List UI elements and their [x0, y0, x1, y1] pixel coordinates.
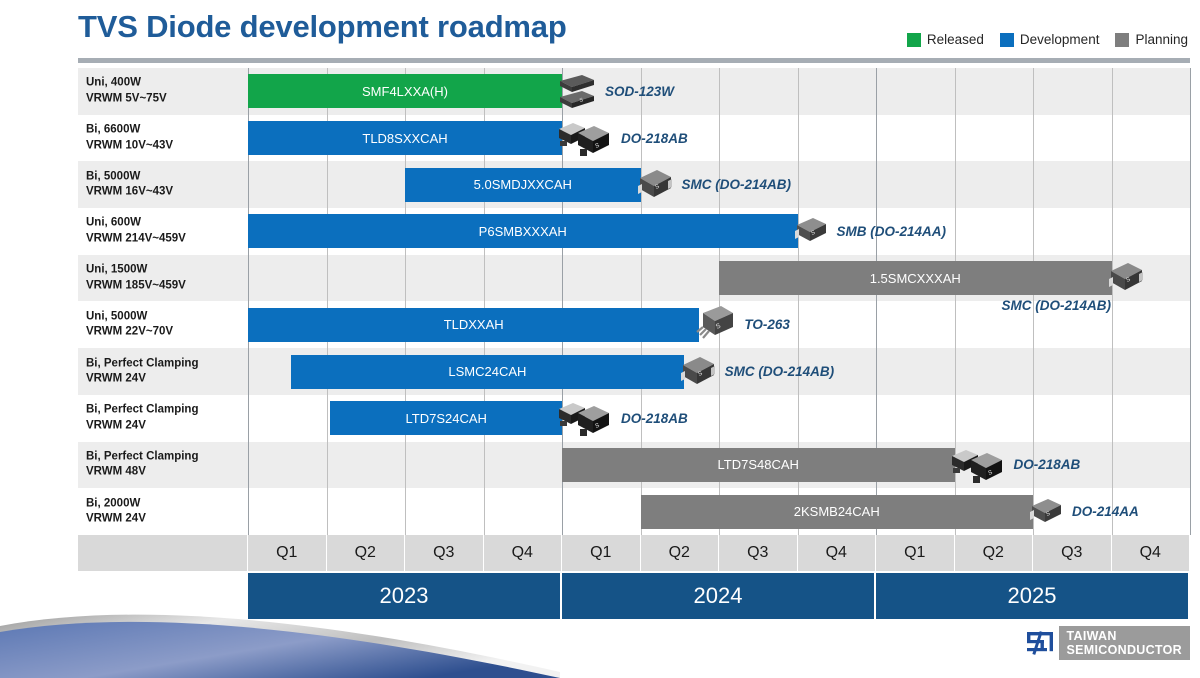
roadmap-bar-lane: 2KSMB24CAHsDO-214AA [78, 488, 1190, 535]
company-logo: TAIWAN SEMICONDUCTOR [1021, 626, 1190, 660]
package-caption: SOD-123W [605, 84, 674, 99]
smb-package-icon: s [1027, 495, 1065, 529]
quarter-cell-7: Q3 [719, 535, 798, 571]
roadmap-bar-development[interactable]: TLD8SXXCAH [248, 121, 562, 155]
roadmap-bar-development[interactable]: LTD7S24CAH [330, 401, 562, 435]
roadmap-bar-development[interactable]: P6SMBXXXAH [248, 214, 798, 248]
roadmap-bar-lane: SMF4LXXA(H)sSOD-123W [78, 68, 1190, 115]
roadmap-bar-lane: 1.5SMCXXXAHs [78, 255, 1190, 302]
quarter-cell-2: Q2 [327, 535, 406, 571]
roadmap-bar-lane: LSMC24CAHsSMC (DO-214AB) [78, 348, 1190, 395]
roadmap-bar-lane: 5.0SMDJXXCAHsSMC (DO-214AB) [78, 161, 1190, 208]
smb-package-icon: s [792, 214, 830, 248]
roadmap-bar-planning[interactable]: 2KSMB24CAH [641, 495, 1034, 529]
logo-mark-icon [1021, 626, 1059, 660]
logo-line-1: TAIWAN [1067, 629, 1182, 643]
smc-package-icon: s [1106, 259, 1146, 297]
package-group: sDO-218AB [556, 117, 688, 159]
package-caption: SMB (DO-214AA) [837, 224, 947, 239]
package-group: sDO-214AA [1027, 495, 1139, 529]
package-caption: SMC (DO-214AB) [682, 177, 792, 192]
legend-item-development: Development [1000, 32, 1100, 47]
legend: ReleasedDevelopmentPlanning [907, 32, 1188, 47]
roadmap-bars-layer: SMF4LXXA(H)sSOD-123WTLD8SXXCAHsDO-218AB5… [78, 68, 1190, 535]
legend-item-planning: Planning [1115, 32, 1188, 47]
do-218ab-package-icon: s [949, 444, 1007, 486]
package-group: sSMB (DO-214AA) [792, 214, 947, 248]
logo-text: TAIWAN SEMICONDUCTOR [1059, 626, 1190, 660]
roadmap-bar-lane: LTD7S24CAHsDO-218AB [78, 395, 1190, 442]
roadmap-bar-lane: TLDXXAHsTO-263 [78, 302, 1190, 349]
roadmap-bar-planning[interactable]: LTD7S48CAH [562, 448, 955, 482]
package-group: s [1106, 259, 1146, 297]
quarter-cell-9: Q1 [876, 535, 955, 571]
legend-swatch-released [907, 33, 921, 47]
page-title: TVS Diode development roadmap [78, 9, 567, 45]
sod-123w-package-icon: s [556, 71, 598, 111]
package-caption: DO-218AB [621, 411, 688, 426]
roadmap-bar-development[interactable]: TLDXXAH [248, 308, 699, 342]
logo-line-2: SEMICONDUCTOR [1067, 643, 1182, 657]
package-group: sDO-218AB [556, 397, 688, 439]
legend-label-planning: Planning [1135, 32, 1188, 47]
quarter-cell-11: Q3 [1033, 535, 1112, 571]
to-263-package-icon: s [693, 303, 737, 347]
package-caption: SMC (DO-214AB) [725, 364, 835, 379]
do-218ab-package-icon: s [556, 397, 614, 439]
legend-swatch-planning [1115, 33, 1129, 47]
roadmap-bar-planning[interactable]: 1.5SMCXXXAH [719, 261, 1112, 295]
legend-label-released: Released [927, 32, 984, 47]
legend-label-development: Development [1020, 32, 1100, 47]
quarter-header: Q1Q2Q3Q4Q1Q2Q3Q4Q1Q2Q3Q4 [78, 535, 1190, 571]
quarter-cell-8: Q4 [798, 535, 877, 571]
roadmap-bar-development[interactable]: LSMC24CAH [291, 355, 684, 389]
quarter-cell-6: Q2 [641, 535, 720, 571]
package-group: sSMC (DO-214AB) [678, 353, 835, 391]
legend-swatch-development [1000, 33, 1014, 47]
quarter-cell-1: Q1 [248, 535, 327, 571]
quarter-cell-5: Q1 [562, 535, 641, 571]
legend-item-released: Released [907, 32, 984, 47]
year-cell-2024: 2024 [562, 573, 876, 619]
quarter-cell-12: Q4 [1112, 535, 1191, 571]
package-group: sSOD-123W [556, 71, 674, 111]
roadmap-chart: Uni, 400WVRWM 5V~75VBi, 6600WVRWM 10V~43… [78, 68, 1190, 535]
year-cell-2025: 2025 [876, 573, 1190, 619]
package-caption: DO-218AB [621, 131, 688, 146]
package-caption: DO-218AB [1014, 457, 1081, 472]
roadmap-bar-lane: LTD7S48CAHsDO-218AB [78, 442, 1190, 489]
package-group: sTO-263 [693, 303, 790, 347]
roadmap-bar-development[interactable]: 5.0SMDJXXCAH [405, 168, 641, 202]
package-caption: TO-263 [744, 317, 790, 332]
gridline [1190, 68, 1191, 535]
quarter-header-spacer [78, 535, 248, 571]
roadmap-bar-lane: TLD8SXXCAHsDO-218AB [78, 115, 1190, 162]
package-group: sSMC (DO-214AB) [635, 166, 792, 204]
quarter-cell-10: Q2 [955, 535, 1034, 571]
package-group: sDO-218AB [949, 444, 1081, 486]
smc-package-icon: s [635, 166, 675, 204]
package-caption: DO-214AA [1072, 504, 1139, 519]
quarter-cell-4: Q4 [484, 535, 563, 571]
roadmap-bar-lane: P6SMBXXXAHsSMB (DO-214AA) [78, 208, 1190, 255]
roadmap-bar-released[interactable]: SMF4LXXA(H) [248, 74, 562, 108]
quarter-cell-3: Q3 [405, 535, 484, 571]
do-218ab-package-icon: s [556, 117, 614, 159]
title-divider [78, 58, 1190, 63]
smc-package-icon: s [678, 353, 718, 391]
decorative-swoosh [0, 606, 560, 678]
